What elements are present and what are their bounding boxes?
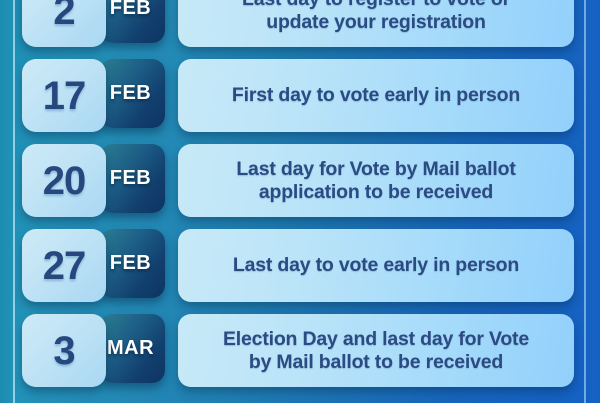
date-chip: FEB 20 bbox=[22, 144, 165, 217]
description-panel: Last day to vote early in person bbox=[178, 229, 574, 302]
month-box: FEB bbox=[100, 59, 165, 128]
day-box: 3 bbox=[22, 314, 106, 387]
election-dates-infographic: { "theme": { "background_left": "#2191b6… bbox=[0, 0, 600, 403]
month-label: MAR bbox=[107, 337, 154, 360]
description-line: Last day to register to vote or bbox=[242, 0, 510, 10]
description-line: Last day to vote early in person bbox=[233, 254, 519, 276]
date-row: FEB 20 Last day for Vote by Mail ballot … bbox=[0, 144, 600, 217]
date-row: MAR 3 Election Day and last day for Vote… bbox=[0, 314, 600, 387]
month-box: FEB bbox=[100, 229, 165, 298]
day-box: 27 bbox=[22, 229, 106, 302]
description-text: Last day to register to vote or update y… bbox=[242, 0, 510, 33]
month-box: MAR bbox=[100, 314, 165, 383]
month-label: FEB bbox=[110, 0, 152, 20]
description-panel: Election Day and last day for Vote by Ma… bbox=[178, 314, 574, 387]
description-line: Last day for Vote by Mail ballot bbox=[236, 158, 515, 180]
date-chip: MAR 3 bbox=[22, 314, 165, 387]
day-number: 20 bbox=[43, 161, 86, 201]
day-box: 17 bbox=[22, 59, 106, 132]
month-box: FEB bbox=[100, 0, 165, 43]
date-row: FEB 27 Last day to vote early in person bbox=[0, 229, 600, 302]
day-box: 20 bbox=[22, 144, 106, 217]
day-number: 2 bbox=[53, 0, 74, 31]
day-number: 17 bbox=[43, 76, 86, 116]
description-line: update your registration bbox=[266, 11, 485, 33]
description-panel: Last day for Vote by Mail ballot applica… bbox=[178, 144, 574, 217]
description-text: Last day to vote early in person bbox=[233, 254, 519, 277]
date-row-list: FEB 2 Last day to register to vote or up… bbox=[0, 0, 600, 399]
day-number: 27 bbox=[43, 246, 86, 286]
description-text: First day to vote early in person bbox=[232, 84, 520, 107]
month-label: FEB bbox=[110, 82, 152, 105]
description-line: First day to vote early in person bbox=[232, 84, 520, 106]
description-text: Election Day and last day for Vote by Ma… bbox=[223, 328, 529, 373]
date-chip: FEB 2 bbox=[22, 0, 165, 47]
description-panel: Last day to register to vote or update y… bbox=[178, 0, 574, 47]
month-label: FEB bbox=[110, 252, 152, 275]
day-box: 2 bbox=[22, 0, 106, 47]
description-line: application to be received bbox=[259, 181, 493, 203]
month-box: FEB bbox=[100, 144, 165, 213]
month-label: FEB bbox=[110, 167, 152, 190]
date-row: FEB 2 Last day to register to vote or up… bbox=[0, 0, 600, 47]
date-chip: FEB 17 bbox=[22, 59, 165, 132]
day-number: 3 bbox=[53, 331, 74, 371]
date-chip: FEB 27 bbox=[22, 229, 165, 302]
date-row: FEB 17 First day to vote early in person bbox=[0, 59, 600, 132]
description-text: Last day for Vote by Mail ballot applica… bbox=[236, 158, 515, 203]
description-line: Election Day and last day for Vote bbox=[223, 328, 529, 350]
description-panel: First day to vote early in person bbox=[178, 59, 574, 132]
description-line: by Mail ballot to be received bbox=[249, 351, 503, 373]
